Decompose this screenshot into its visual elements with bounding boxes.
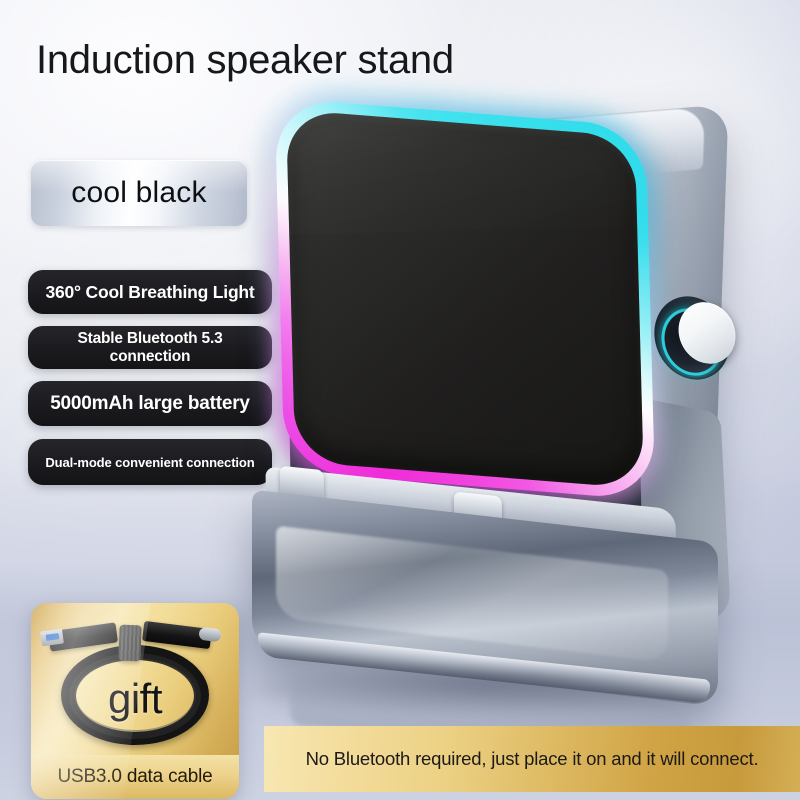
stand-cradle-ledge	[265, 466, 676, 579]
speaker-back-plate	[283, 139, 642, 569]
color-variant-chip[interactable]: cool black	[31, 160, 247, 226]
gift-card: gift USB3.0 data cable	[31, 603, 239, 799]
gift-cable-illustration: gift	[31, 603, 239, 755]
rgb-breathing-light-ring	[275, 97, 656, 500]
feature-pill-bluetooth: Stable Bluetooth 5.3 connection	[28, 326, 272, 369]
side-knob-recess	[649, 295, 735, 381]
feature-pill-dual-mode: Dual-mode convenient connection	[28, 439, 272, 485]
stand-cradle-tab-left	[280, 466, 325, 509]
stand-base-lip	[258, 632, 710, 704]
cable-velcro-strap	[118, 625, 141, 662]
feature-pill-breathing-light: 360° Cool Breathing Light	[28, 270, 272, 314]
bottom-claim-banner: No Bluetooth required, just place it on …	[264, 726, 800, 792]
bottom-claim-text: No Bluetooth required, just place it on …	[306, 748, 759, 770]
page-title: Induction speaker stand	[36, 38, 454, 83]
speaker-body-top-highlight	[403, 107, 705, 196]
gift-caption-text: USB3.0 data cable	[57, 766, 212, 788]
speaker-front-face	[286, 109, 644, 488]
gift-caption-band: USB3.0 data cable	[31, 755, 239, 799]
color-variant-label: cool black	[71, 176, 206, 210]
stand-cradle-tab-right	[454, 491, 503, 532]
speaker-body-side-panel	[531, 376, 732, 626]
product-image	[236, 96, 784, 696]
side-knob-light-ring	[657, 307, 727, 376]
stand-drop-shadow	[246, 668, 726, 714]
stand-base-wedge	[252, 489, 718, 706]
side-control-knob	[675, 301, 740, 365]
gift-label: gift	[31, 675, 239, 723]
product-marketing-image: Induction speaker stand cool black 360° …	[0, 0, 800, 800]
stand-base-gloss	[276, 526, 668, 663]
feature-pill-battery: 5000mAh large battery	[28, 381, 272, 426]
speaker-body-shell	[383, 104, 728, 572]
